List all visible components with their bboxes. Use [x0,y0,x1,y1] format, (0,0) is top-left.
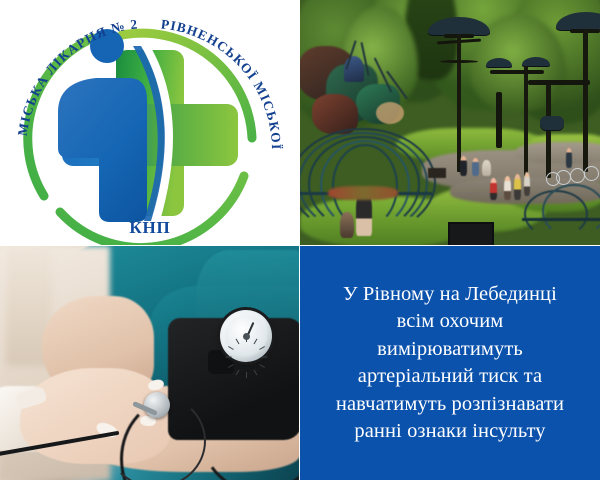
bp-gauge [220,310,272,362]
blood-pressure-photo [0,246,299,480]
person [482,160,491,176]
bp-gauge-face [225,315,267,357]
announcement-line: всім охочим [397,308,504,336]
logo-quadrant: МІСЬКА ЛІКАРНЯ № 2 РІВНЕНСЬКОЇ МІСЬКОЇ Р… [0,0,299,245]
hospital-logo: МІСЬКА ЛІКАРНЯ № 2 РІВНЕНСЬКОЇ МІСЬКОЇ Р… [0,0,299,245]
person [340,212,354,238]
blood-pressure-scene [0,246,299,480]
bp-gauge-hub [243,333,250,340]
stethoscope-chestpiece [144,392,170,418]
person [566,148,572,168]
bench [428,168,446,178]
announcement-panel: У Рівному на Лебединці всім охочим вимір… [300,246,600,480]
announcement-line: навчатимуть розпізнавати [336,391,564,419]
metal-sculpture-small [522,182,600,242]
announcement-line: У Рівному на Лебединці [343,281,557,309]
announcement-text: У Рівному на Лебединці всім охочим вимір… [300,246,600,480]
person [504,176,511,200]
poster-root: МІСЬКА ЛІКАРНЯ № 2 РІВНЕНСЬКОЇ МІСЬКОЇ Р… [0,0,600,480]
hospital-logo-svg: МІСЬКА ЛІКАРНЯ № 2 РІВНЕНСЬКОЇ МІСЬКОЇ Р… [0,0,299,245]
person [524,172,530,196]
logo-figure-body [58,78,147,222]
announcement-line: ранні ознаки інсульту [354,418,545,446]
park-photo [300,0,600,245]
info-board [448,222,494,245]
person [514,174,521,200]
person [472,158,479,176]
park-photo-scene [300,0,600,245]
logo-abbreviation: КНП [129,218,170,237]
person [490,178,497,200]
announcement-line: артеріальний тиск та [358,363,542,391]
announcement-line: вимірюватимуть [377,336,523,364]
flowerbed [328,186,398,200]
person [460,156,467,176]
